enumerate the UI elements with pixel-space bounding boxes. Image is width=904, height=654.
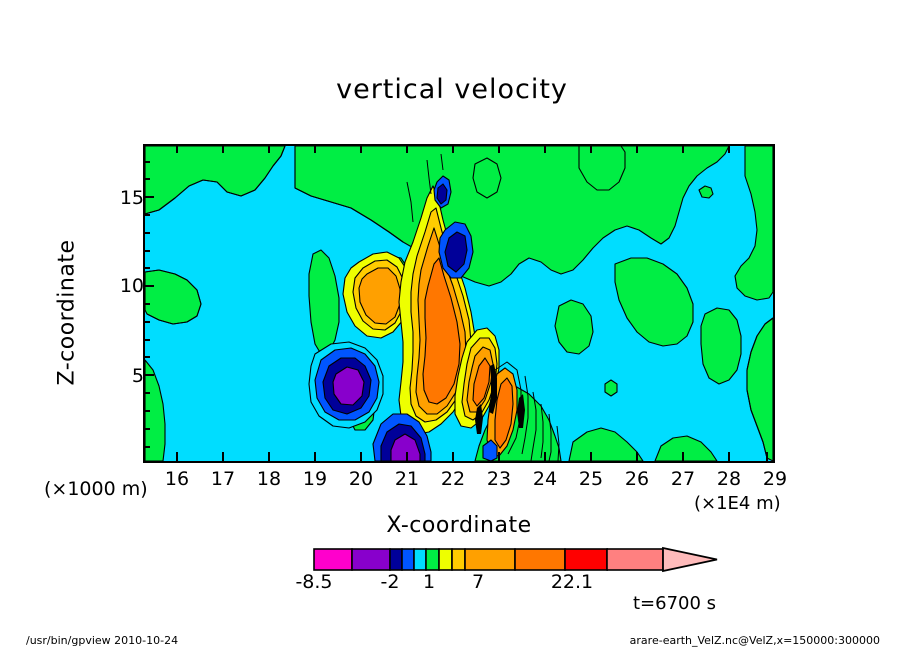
cb-seg-9	[515, 549, 565, 570]
y-axis-title: Z-coordinate	[55, 218, 80, 408]
x-tick-top	[176, 144, 178, 153]
x-tick-label-25: 25	[571, 468, 611, 490]
x-tick-label-27: 27	[663, 468, 703, 490]
x-tick-label-16: 16	[157, 468, 197, 490]
x-tick-top	[590, 144, 592, 153]
cb-seg-6	[439, 549, 452, 570]
x-tick-top	[682, 144, 684, 153]
cb-seg-0	[314, 549, 352, 570]
cb-seg-3	[402, 549, 414, 570]
x-tick	[268, 452, 270, 463]
cb-label-4: 22.1	[537, 571, 607, 593]
cb-seg-4	[414, 549, 426, 570]
x-tick	[636, 452, 638, 463]
y-tick-minor	[143, 250, 150, 252]
contour-field	[145, 146, 773, 461]
y-tick-major	[143, 196, 154, 198]
cb-seg-1	[352, 549, 390, 570]
x-tick-label-21: 21	[387, 468, 427, 490]
x-tick	[314, 452, 316, 463]
y-tick-minor	[143, 178, 150, 180]
x-tick-label-17: 17	[203, 468, 243, 490]
x-axis-unit: (×1E4 m)	[694, 493, 781, 514]
x-tick-top	[636, 144, 638, 153]
x-tick-label-24: 24	[525, 468, 565, 490]
y-tick-major	[143, 374, 154, 376]
x-tick-label-26: 26	[617, 468, 657, 490]
x-tick-top	[728, 144, 730, 153]
x-tick-label-28: 28	[709, 468, 749, 490]
y-tick-minor	[143, 392, 150, 394]
x-tick	[766, 452, 768, 463]
y-tick-minor	[143, 161, 150, 163]
x-tick	[176, 452, 178, 463]
x-tick-label-22: 22	[433, 468, 473, 490]
x-tick	[360, 452, 362, 463]
y-tick-minor	[143, 339, 150, 341]
y-tick-minor	[143, 410, 150, 412]
y-tick-minor	[143, 303, 150, 305]
x-tick-label-19: 19	[295, 468, 335, 490]
x-tick	[682, 452, 684, 463]
x-tick-top	[222, 144, 224, 153]
cb-seg-5	[426, 549, 439, 570]
x-tick-top	[498, 144, 500, 153]
y-tick-minor	[143, 232, 150, 234]
x-tick-label-23: 23	[479, 468, 519, 490]
x-tick	[590, 452, 592, 463]
cb-seg-2	[390, 549, 402, 570]
y-tick-label-15: 15	[104, 187, 144, 209]
x-tick	[728, 452, 730, 463]
footer-left-text: /usr/bin/gpview 2010-10-24	[26, 634, 178, 647]
x-tick	[406, 452, 408, 463]
x-tick-label-18: 18	[249, 468, 289, 490]
x-tick-top	[406, 144, 408, 153]
x-tick	[222, 452, 224, 463]
cb-seg-8	[465, 549, 515, 570]
x-tick-top	[544, 144, 546, 153]
x-tick-label-20: 20	[341, 468, 381, 490]
y-tick-label-10: 10	[104, 275, 144, 297]
y-tick-minor	[143, 321, 150, 323]
cb-label-0: -8.5	[279, 571, 349, 593]
chart-title: vertical velocity	[0, 74, 904, 105]
x-axis-title: X-coordinate	[143, 513, 775, 538]
cb-seg-11	[607, 549, 663, 570]
figure-canvas: vertical velocity	[0, 0, 904, 654]
x-tick-top	[452, 144, 454, 153]
x-tick-label-29: 29	[755, 468, 795, 490]
y-axis-unit: (×1000 m)	[44, 478, 148, 500]
y-tick-minor	[143, 267, 150, 269]
x-tick	[544, 452, 546, 463]
y-tick-minor	[143, 356, 150, 358]
y-tick-minor	[143, 428, 150, 430]
x-tick-top	[314, 144, 316, 153]
x-tick-top	[268, 144, 270, 153]
footer-right-text: arare-earth_VelZ.nc@VelZ,x=150000:300000	[630, 634, 880, 647]
cb-label-3: 7	[443, 571, 513, 593]
y-tick-major	[143, 285, 154, 287]
contour-plot-area	[143, 144, 775, 463]
x-tick	[498, 452, 500, 463]
y-tick-label-5: 5	[104, 365, 144, 387]
cb-seg-7	[452, 549, 465, 570]
y-tick-minor	[143, 214, 150, 216]
cb-seg-10	[565, 549, 607, 570]
cb-arrow-over	[663, 548, 717, 571]
y-tick-minor	[143, 446, 150, 448]
time-annotation: t=6700 s	[633, 593, 716, 614]
colorbar-tail	[607, 546, 767, 576]
x-tick	[452, 452, 454, 463]
x-tick-top	[360, 144, 362, 153]
